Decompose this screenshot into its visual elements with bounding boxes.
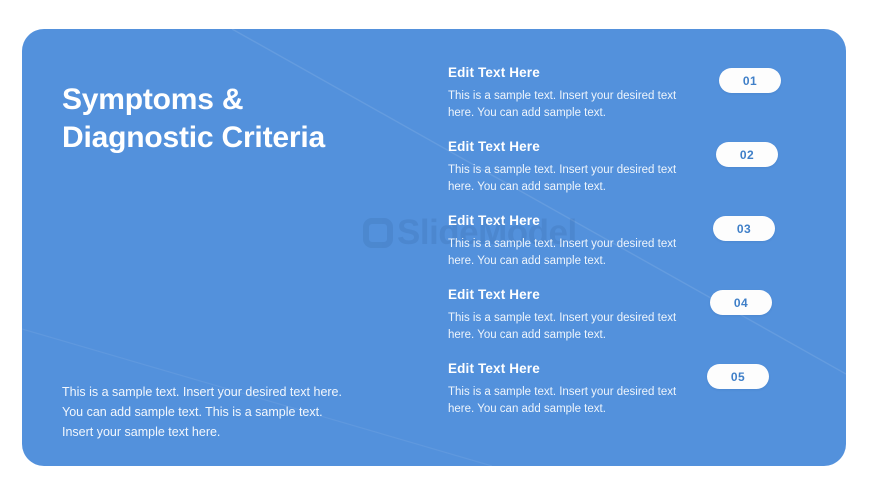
number-badge-01[interactable]: 01 bbox=[719, 68, 781, 93]
number-badge-label: 05 bbox=[731, 371, 745, 383]
items-list: Edit Text Here This is a sample text. In… bbox=[448, 66, 698, 436]
item-title: Edit Text Here bbox=[448, 288, 698, 302]
number-badge-label: 01 bbox=[743, 75, 757, 87]
content-panel: SlideModel Symptoms & Diagnostic Criteri… bbox=[22, 29, 846, 466]
item-title: Edit Text Here bbox=[448, 140, 698, 154]
list-item[interactable]: Edit Text Here This is a sample text. In… bbox=[448, 140, 698, 214]
page-title-line-2: Diagnostic Criteria bbox=[62, 119, 422, 157]
list-item[interactable]: Edit Text Here This is a sample text. In… bbox=[448, 288, 698, 362]
item-body: This is a sample text. Insert your desir… bbox=[448, 88, 680, 123]
item-body: This is a sample text. Insert your desir… bbox=[448, 162, 680, 197]
number-badge-label: 02 bbox=[740, 149, 754, 161]
item-body: This is a sample text. Insert your desir… bbox=[448, 310, 680, 345]
list-item[interactable]: Edit Text Here This is a sample text. In… bbox=[448, 66, 698, 140]
list-item[interactable]: Edit Text Here This is a sample text. In… bbox=[448, 214, 698, 288]
number-badge-03[interactable]: 03 bbox=[713, 216, 775, 241]
list-item[interactable]: Edit Text Here This is a sample text. In… bbox=[448, 362, 698, 436]
number-badge-05[interactable]: 05 bbox=[707, 364, 769, 389]
item-title: Edit Text Here bbox=[448, 66, 698, 80]
intro-paragraph: This is a sample text. Insert your desir… bbox=[62, 382, 352, 443]
number-badge-02[interactable]: 02 bbox=[716, 142, 778, 167]
number-badge-label: 04 bbox=[734, 297, 748, 309]
item-title: Edit Text Here bbox=[448, 362, 698, 376]
item-title: Edit Text Here bbox=[448, 214, 698, 228]
number-badge-04[interactable]: 04 bbox=[710, 290, 772, 315]
slide-canvas: SlideModel Symptoms & Diagnostic Criteri… bbox=[0, 0, 870, 489]
number-badge-label: 03 bbox=[737, 223, 751, 235]
item-body: This is a sample text. Insert your desir… bbox=[448, 384, 680, 419]
watermark-logo-icon bbox=[363, 218, 393, 248]
item-body: This is a sample text. Insert your desir… bbox=[448, 236, 680, 271]
page-title-line-1: Symptoms & bbox=[62, 81, 422, 119]
page-title: Symptoms & Diagnostic Criteria bbox=[62, 81, 422, 156]
